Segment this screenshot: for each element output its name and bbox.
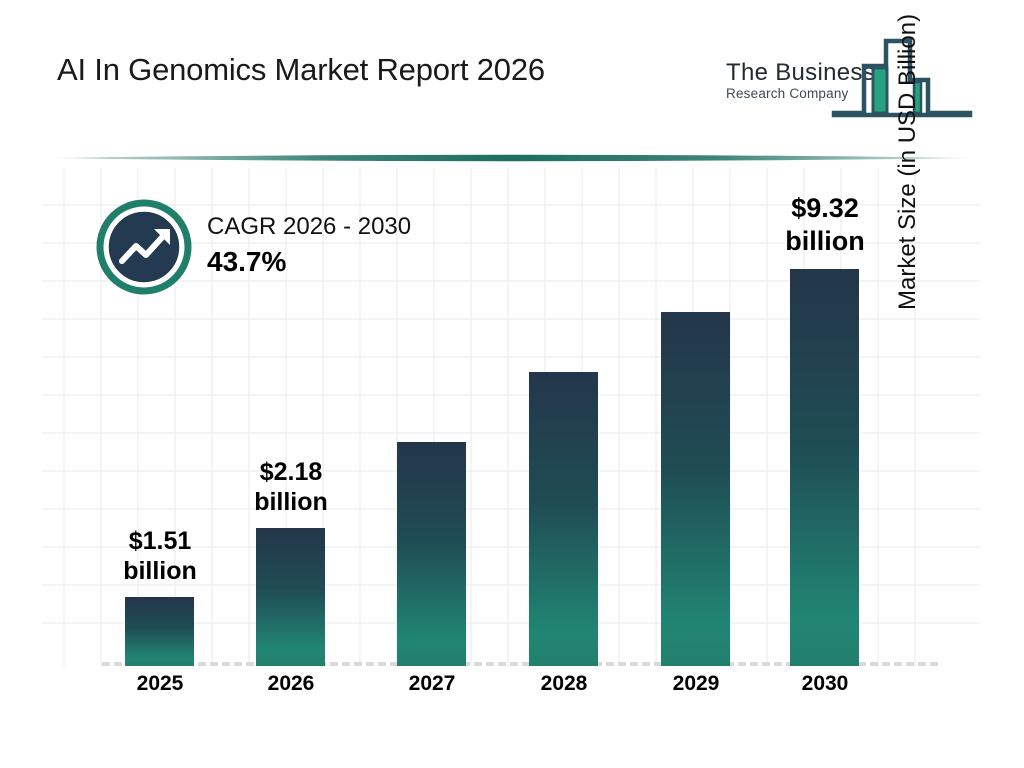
trending-up-arrow-icon bbox=[96, 199, 192, 295]
bar-label-2030-line1: $9.32 bbox=[754, 192, 896, 225]
bar-2028-fill bbox=[529, 372, 598, 666]
company-logo: The Business Research Company bbox=[726, 33, 974, 123]
bar-label-2030: $9.32 billion bbox=[754, 192, 896, 258]
bar-2027-fill bbox=[397, 442, 466, 666]
header-divider bbox=[42, 150, 980, 166]
cagr-badge: CAGR 2026 - 2030 43.7% bbox=[96, 199, 496, 314]
cagr-text-block: CAGR 2026 - 2030 43.7% bbox=[207, 211, 497, 281]
x-axis: 2025 2026 2027 2028 2029 2030 bbox=[42, 672, 980, 712]
bar-label-2026: $2.18 billion bbox=[221, 457, 361, 517]
bar-label-2030-line2: billion bbox=[754, 225, 896, 258]
x-tick-2028: 2028 bbox=[494, 672, 634, 696]
header: AI In Genomics Market Report 2026 The Bu… bbox=[0, 0, 1024, 150]
x-tick-2027: 2027 bbox=[362, 672, 502, 696]
bar-2030-fill bbox=[790, 269, 859, 666]
bar-2030[interactable] bbox=[790, 269, 859, 666]
bar-label-2025: $1.51 billion bbox=[90, 526, 230, 586]
bar-2028[interactable] bbox=[529, 372, 598, 666]
bar-2027[interactable] bbox=[397, 442, 466, 666]
x-tick-2026: 2026 bbox=[221, 672, 361, 696]
x-tick-2030: 2030 bbox=[755, 672, 895, 696]
bar-2029[interactable] bbox=[661, 312, 730, 666]
bar-2026-fill bbox=[256, 528, 325, 666]
bar-label-2025-line1: $1.51 bbox=[90, 526, 230, 556]
bar-2026[interactable] bbox=[256, 528, 325, 666]
x-tick-2025: 2025 bbox=[90, 672, 230, 696]
bar-2025-fill bbox=[125, 597, 194, 666]
cagr-period-label: CAGR 2026 - 2030 bbox=[207, 211, 497, 243]
x-tick-2029: 2029 bbox=[626, 672, 766, 696]
cagr-value-label: 43.7% bbox=[207, 243, 497, 281]
y-axis-title: Market Size (in USD Billion) bbox=[894, 0, 934, 310]
bar-label-2025-line2: billion bbox=[90, 556, 230, 586]
bar-2029-fill bbox=[661, 312, 730, 666]
page-title: AI In Genomics Market Report 2026 bbox=[57, 52, 545, 88]
bar-label-2026-line2: billion bbox=[221, 487, 361, 517]
bar-2025[interactable] bbox=[125, 597, 194, 666]
bar-label-2026-line1: $2.18 bbox=[221, 457, 361, 487]
